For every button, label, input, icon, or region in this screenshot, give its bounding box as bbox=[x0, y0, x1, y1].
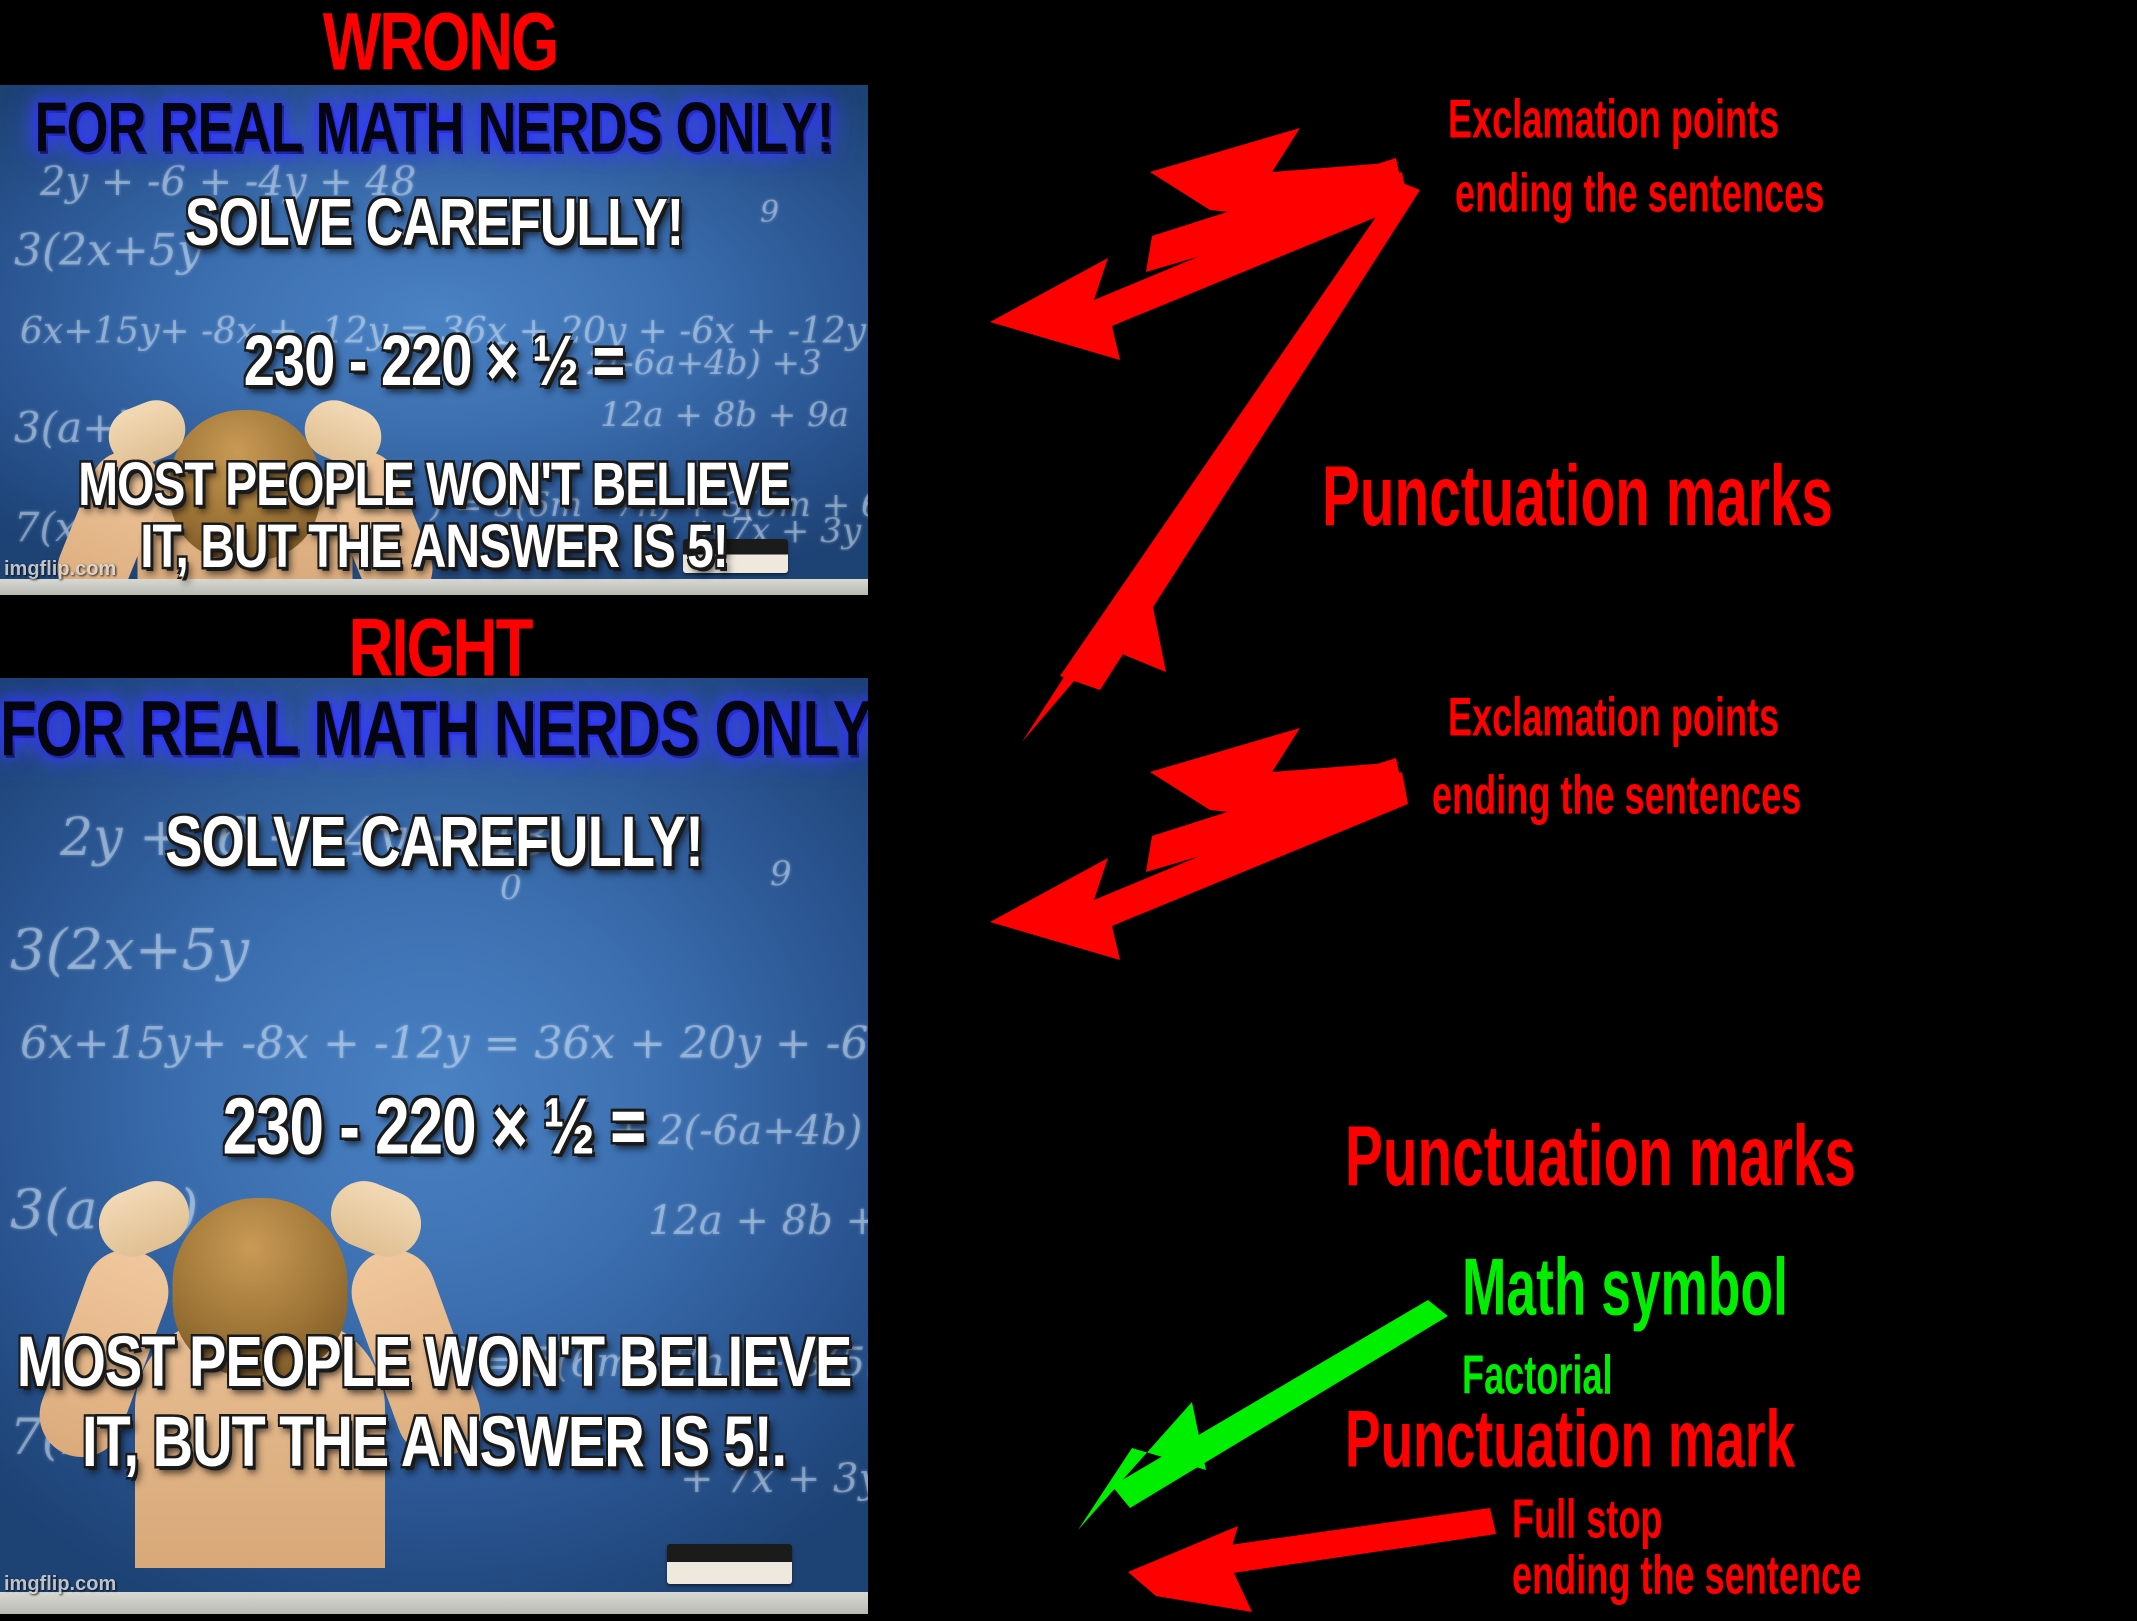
anno-punctuation-mark: Punctuation mark bbox=[1345, 1400, 1795, 1481]
verdict-label-wrong: WRONG bbox=[0, 2, 880, 84]
canvas-root: WRONG 2y + -6 + -4y + 48 3(2x+5y 6x+15y+… bbox=[0, 0, 2137, 1621]
imgflip-watermark-wrong: imgflip.com bbox=[4, 558, 116, 581]
meme-image-right: 2y + -6 + -4y + 48 3(2x+5y 6x+15y+ -8x +… bbox=[0, 678, 868, 1614]
chalk-tray-2 bbox=[0, 1592, 868, 1614]
meme-line-5-wrong: IT, BUT THE ANSWER IS 5! bbox=[0, 517, 868, 578]
anno-full-stop: Full stop bbox=[1512, 1492, 1662, 1547]
meme-line-2-right: SOLVE CAREFULLY! bbox=[0, 806, 868, 878]
anno-ending-sentence: ending the sentence bbox=[1512, 1548, 1861, 1603]
arrow-to-carefully-wrong bbox=[990, 172, 1408, 360]
anno-punctuation-marks-right: Punctuation marks bbox=[1345, 1112, 1856, 1198]
meme-line-1-wrong: FOR REAL MATH NERDS ONLY! bbox=[0, 93, 868, 163]
anno-math-symbol: Math symbol bbox=[1462, 1248, 1788, 1329]
anno-exclamation-points-right: Exclamation points bbox=[1448, 690, 1779, 745]
meme-image-wrong: 2y + -6 + -4y + 48 3(2x+5y 6x+15y+ -8x +… bbox=[0, 85, 868, 595]
anno-exclamation-points-wrong: Exclamation points bbox=[1448, 92, 1779, 147]
eraser-2 bbox=[667, 1544, 792, 1584]
meme-line-5-right: IT, BUT THE ANSWER IS 5!. bbox=[0, 1406, 868, 1478]
arrow-to-only-right bbox=[1146, 728, 1404, 872]
meme-equation-wrong: 230 - 220 × ½ = bbox=[0, 325, 868, 397]
meme-line-4-right: MOST PEOPLE WON'T BELIEVE bbox=[0, 1326, 868, 1398]
arrow-to-carefully-right bbox=[990, 772, 1408, 960]
meme-equation-right: 230 - 220 × ½ = bbox=[0, 1088, 868, 1167]
anno-ending-sentences-right: ending the sentences bbox=[1432, 768, 1801, 823]
meme-line-2-wrong: SOLVE CAREFULLY! bbox=[0, 190, 868, 257]
arrow-to-only-wrong bbox=[1146, 128, 1404, 272]
arrow-to-full-stop bbox=[1128, 1508, 1496, 1612]
anno-ending-sentences-wrong: ending the sentences bbox=[1455, 166, 1824, 221]
anno-punctuation-marks-wrong: Punctuation marks bbox=[1322, 452, 1833, 538]
meme-line-1-right: FOR REAL MATH NERDS ONLY! bbox=[0, 690, 868, 768]
chalk-tray bbox=[0, 579, 868, 595]
meme-line-4-wrong: MOST PEOPLE WON'T BELIEVE bbox=[0, 455, 868, 516]
imgflip-watermark-right: imgflip.com bbox=[4, 1573, 116, 1596]
